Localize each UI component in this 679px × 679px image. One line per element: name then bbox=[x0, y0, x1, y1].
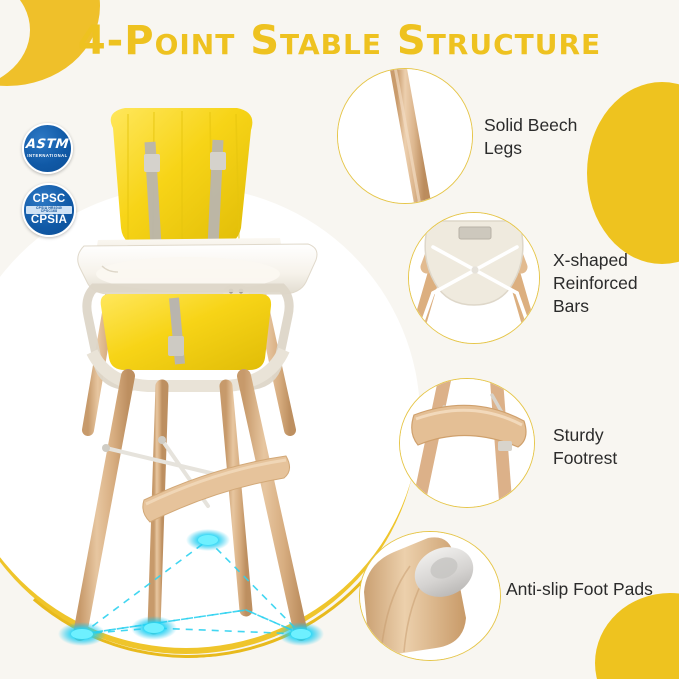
label-line: X-shaped bbox=[553, 249, 679, 272]
decor-blob-right bbox=[587, 82, 679, 264]
badge-cpsc-line1: CPSC bbox=[33, 194, 66, 206]
label-line: Bars bbox=[553, 295, 679, 318]
label-line: Anti-slip Foot Pads bbox=[506, 578, 679, 601]
badge-cpsc-band: CPSIA HR4040 CPSC168 bbox=[26, 206, 72, 214]
x-brace-icon bbox=[408, 212, 540, 344]
feature-label-anti-slip-foot-pads: Anti-slip Foot Pads bbox=[506, 578, 679, 601]
badge-astm: ASTM INTERNATIONAL bbox=[22, 123, 73, 174]
infographic-canvas: 4-Point Stable Structure bbox=[0, 0, 679, 679]
feature-label-sturdy-footrest: Sturdy Footrest bbox=[553, 424, 679, 470]
badge-cpsc-line2: CPSIA bbox=[31, 215, 67, 227]
badge-astm-label: ASTM bbox=[25, 138, 69, 151]
label-line: Legs bbox=[484, 137, 634, 160]
wood-leg-icon bbox=[337, 68, 473, 204]
page-title: 4-Point Stable Structure bbox=[0, 18, 679, 64]
label-line: Sturdy bbox=[553, 424, 679, 447]
feature-label-x-shaped-reinforced-bars: X-shaped Reinforced Bars bbox=[553, 249, 679, 318]
label-line: Solid Beech bbox=[484, 114, 634, 137]
foot-pad-icon bbox=[359, 531, 501, 661]
product-high-chair bbox=[58, 100, 338, 640]
badge-cpsc: CPSC CPSIA HR4040 CPSC168 CPSIA bbox=[22, 183, 76, 237]
badge-astm-sublabel: INTERNATIONAL bbox=[27, 154, 67, 158]
label-line: Reinforced bbox=[553, 272, 679, 295]
decor-blob-bottom-right bbox=[595, 593, 679, 679]
feature-label-solid-beech-legs: Solid Beech Legs bbox=[484, 114, 634, 160]
label-line: Footrest bbox=[553, 447, 679, 470]
footrest-icon bbox=[399, 378, 535, 508]
